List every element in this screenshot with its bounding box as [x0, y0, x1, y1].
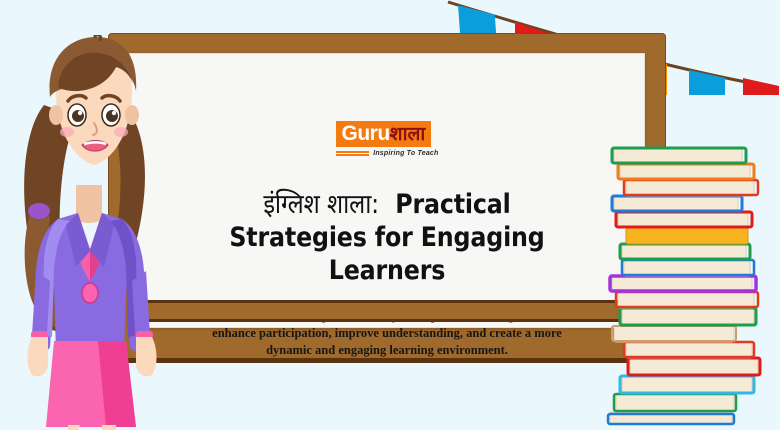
- book: [612, 326, 736, 342]
- book: [620, 376, 754, 394]
- whiteboard: Guruशाला Inspiring To Teach इंग्लिश शाला…: [108, 33, 666, 363]
- flag-blue-2: [689, 70, 725, 95]
- book: [624, 342, 754, 358]
- book: [614, 394, 736, 412]
- cheek-right: [114, 127, 128, 137]
- logo-rule-icon: [336, 151, 370, 156]
- book: [620, 308, 756, 326]
- whiteboard-ledge: [129, 300, 645, 322]
- leg-right: [102, 425, 116, 430]
- hand-left: [28, 337, 49, 376]
- gurushala-logo: Guruशाला Inspiring To Teach: [336, 121, 439, 157]
- book: [610, 276, 756, 292]
- book: [616, 212, 752, 228]
- teacher-illustration: [6, 35, 181, 430]
- book: [624, 180, 758, 196]
- slide-title: इंग्लिश शाला: Practical Strategies for E…: [160, 189, 614, 288]
- logo-tagline-row: Inspiring To Teach: [336, 150, 439, 157]
- whiteboard-surface: Guruशाला Inspiring To Teach इंग्लिश शाला…: [129, 53, 645, 328]
- book: [612, 148, 746, 164]
- eye-highlight-left: [78, 111, 82, 115]
- slide-title-devanagari: इंग्लिश शाला:: [263, 189, 379, 220]
- book: [616, 292, 758, 308]
- flag-red-2: [743, 78, 779, 95]
- blazer-button: [82, 283, 98, 303]
- book: [618, 164, 754, 180]
- logo-tagline: Inspiring To Teach: [373, 150, 438, 157]
- logo-badge: Guruशाला: [336, 121, 432, 147]
- presentation-slide: Guruशाला Inspiring To Teach इंग्लिश शाला…: [0, 0, 780, 430]
- cheek-left: [60, 127, 74, 137]
- logo-word-guru: Guru: [342, 122, 390, 145]
- book-stack-svg: [600, 140, 780, 430]
- leg-left: [68, 425, 80, 430]
- book-stack: [600, 140, 780, 430]
- pupil-right: [106, 110, 118, 122]
- book: [622, 260, 754, 276]
- book: [608, 412, 734, 424]
- book: [620, 244, 750, 260]
- slide-content: Guruशाला Inspiring To Teach इंग्लिश शाला…: [129, 121, 645, 358]
- neck: [76, 185, 102, 223]
- ear-right: [125, 105, 139, 125]
- book: [626, 228, 748, 244]
- book: [628, 358, 760, 376]
- logo-word-shala: शाला: [390, 124, 426, 145]
- book: [612, 196, 742, 212]
- hand-right: [136, 337, 157, 376]
- eye-highlight-right: [112, 111, 116, 115]
- hair-tie: [28, 203, 50, 219]
- teacher-svg: [6, 35, 181, 430]
- pupil-left: [72, 110, 84, 122]
- ear-left: [49, 105, 63, 125]
